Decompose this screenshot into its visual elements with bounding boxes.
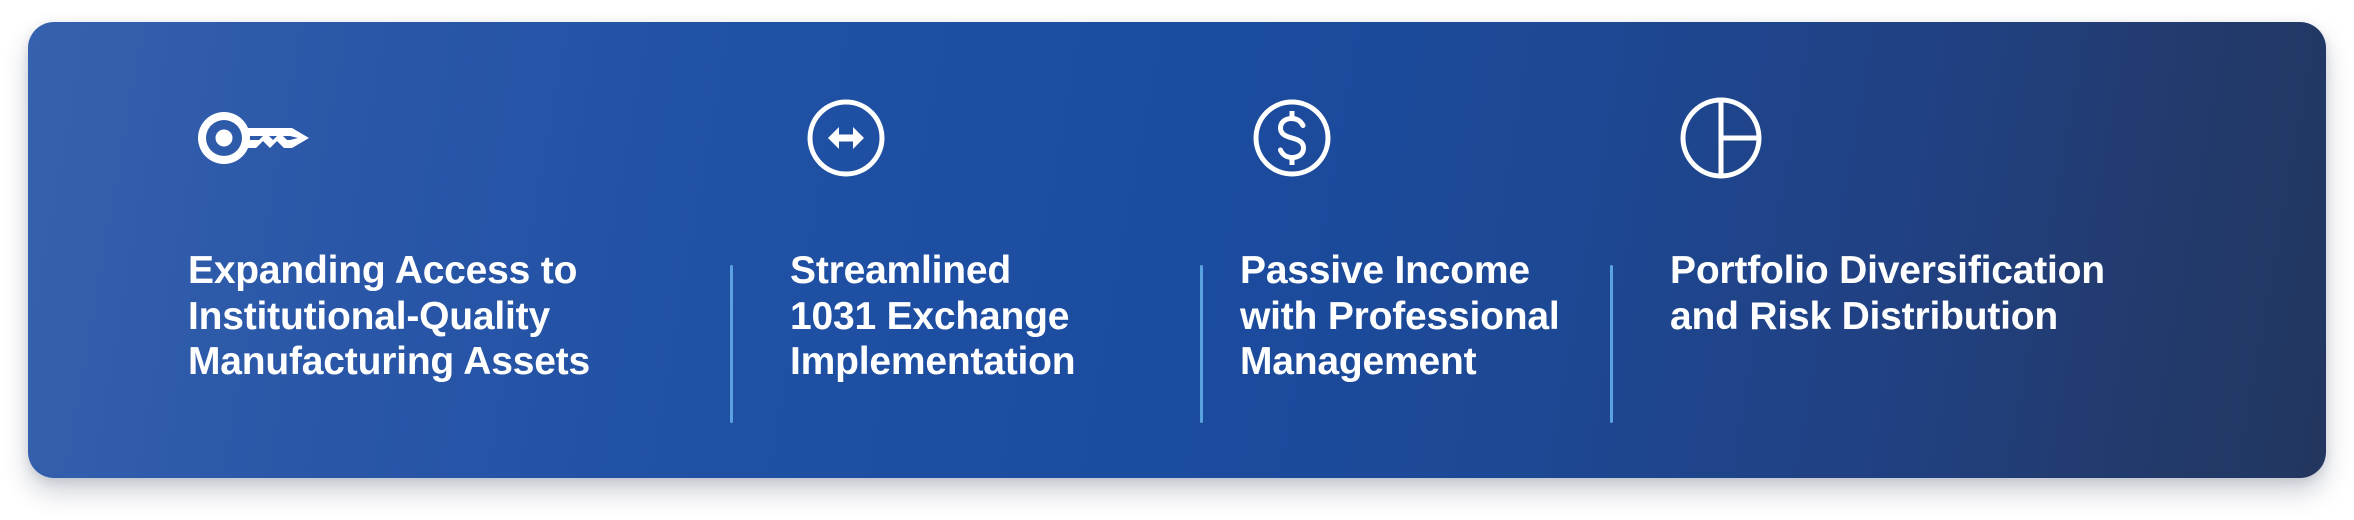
value-prop-column-2: Streamlined 1031 Exchange Implementation [730, 22, 1200, 478]
value-prop-heading-3: Passive Income with Professional Managem… [1240, 248, 1586, 385]
value-prop-column-3: Passive Income with Professional Managem… [1200, 22, 1610, 478]
dollar-sign-circle-icon [1240, 78, 1586, 198]
value-prop-heading-1: Expanding Access to Institutional-Qualit… [188, 248, 700, 385]
value-prop-column-1: Expanding Access to Institutional-Qualit… [28, 22, 730, 478]
arrows-left-right-circle-icon [790, 78, 1176, 198]
key-icon [188, 78, 700, 198]
column-divider-2 [1200, 265, 1203, 423]
pie-chart-icon [1670, 78, 2286, 198]
value-prop-heading-2: Streamlined 1031 Exchange Implementation [790, 248, 1176, 385]
value-props-banner: Expanding Access to Institutional-Qualit… [28, 22, 2326, 478]
value-prop-column-4: Portfolio Diversification and Risk Distr… [1610, 22, 2326, 478]
column-divider-1 [730, 265, 733, 423]
column-divider-3 [1610, 265, 1613, 423]
page-root: Expanding Access to Institutional-Qualit… [0, 0, 2354, 520]
value-props-columns: Expanding Access to Institutional-Qualit… [28, 22, 2326, 478]
value-prop-heading-4: Portfolio Diversification and Risk Distr… [1670, 248, 2286, 339]
